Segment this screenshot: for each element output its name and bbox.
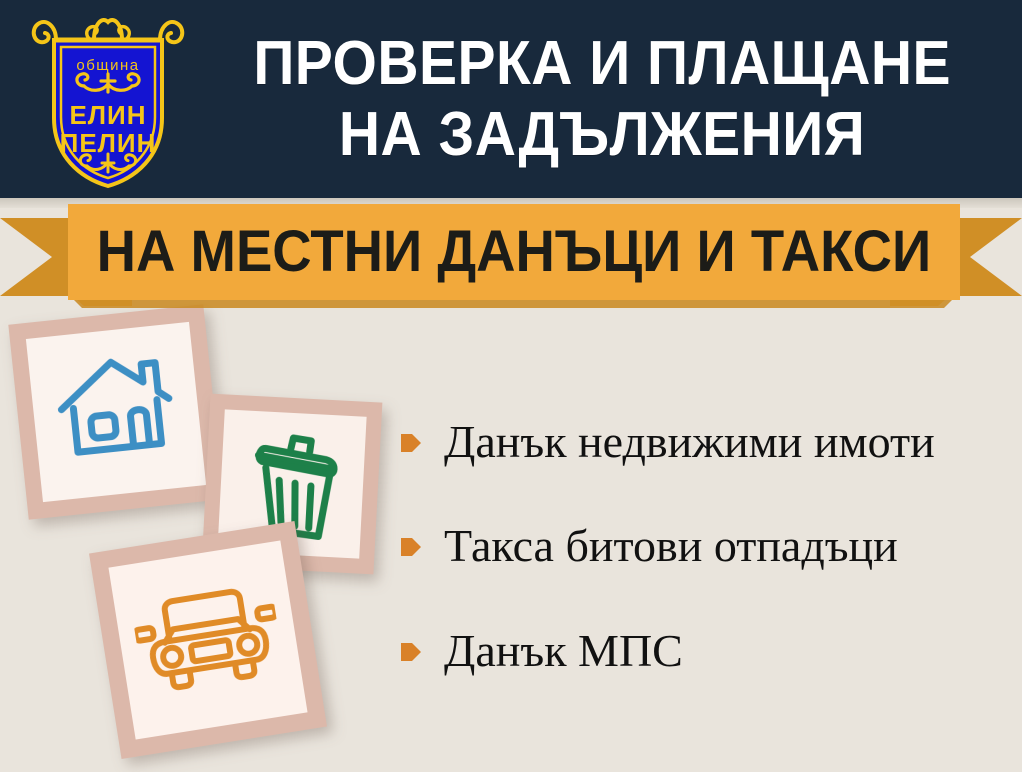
arrow-pentagon-bullet-icon xyxy=(400,430,422,456)
ribbon-band: НА МЕСТНИ ДАНЪЦИ И ТАКСИ xyxy=(68,204,960,300)
list-item[interactable]: Данък недвижими имоти xyxy=(400,418,1010,466)
ribbon-label: НА МЕСТНИ ДАНЪЦИ И ТАКСИ xyxy=(97,223,932,281)
house-icon xyxy=(48,346,183,470)
list-item-label: Данък МПС xyxy=(444,627,683,675)
arrow-pentagon-bullet-icon xyxy=(400,639,422,665)
stamp-paper xyxy=(108,540,307,739)
header-bar: община ЕЛИН ПЕЛИН xyxy=(0,0,1022,198)
municipality-crest-logo: община ЕЛИН ПЕЛИН xyxy=(24,6,192,194)
title-line-1: ПРОВЕРКА И ПЛАЩАНЕ xyxy=(253,31,951,96)
subtitle-ribbon: НА МЕСТНИ ДАНЪЦИ И ТАКСИ xyxy=(0,196,1022,306)
svg-text:община: община xyxy=(76,57,139,74)
list-item[interactable]: Такса битови отпадъци xyxy=(400,522,1010,570)
list-item[interactable]: Данък МПС xyxy=(400,627,1010,675)
title-line-2: НА ЗАДЪЛЖЕНИЯ xyxy=(339,102,865,167)
list-item-label: Данък недвижими имоти xyxy=(444,418,935,466)
poster-title: ПРОВЕРКА И ПЛАЩАНЕ НА ЗАДЪЛЖЕНИЯ xyxy=(196,14,1008,184)
svg-text:ЕЛИН: ЕЛИН xyxy=(69,100,146,130)
stamp-card-group xyxy=(0,300,430,770)
car-stamp-card xyxy=(89,521,327,759)
poster-canvas: община ЕЛИН ПЕЛИН xyxy=(0,0,1022,772)
house-stamp-card xyxy=(8,304,223,519)
car-front-icon xyxy=(130,579,286,700)
tax-type-list: Данък недвижими имоти Такса битови отпад… xyxy=(400,418,1010,675)
arrow-pentagon-bullet-icon xyxy=(400,534,422,560)
list-item-label: Такса битови отпадъци xyxy=(444,522,898,570)
stamp-paper xyxy=(26,322,206,502)
